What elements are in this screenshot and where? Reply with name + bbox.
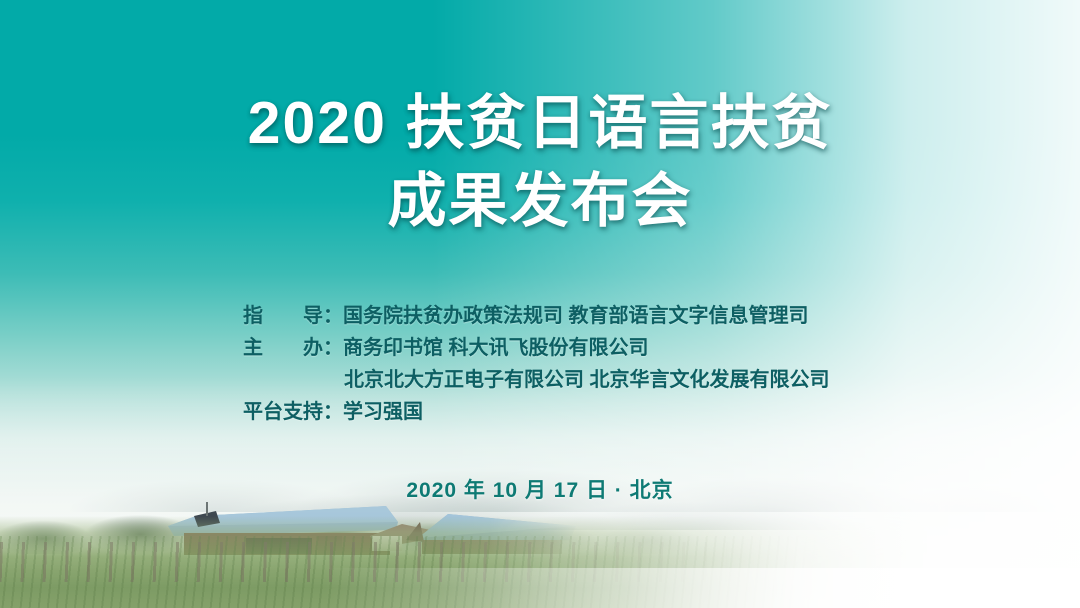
credits-block: 指 导：国务院扶贫办政策法规司 教育部语言文字信息管理司 主 办：商务印书馆 科… <box>243 300 830 428</box>
credits-value-organizer: 商务印书馆 科大讯飞股份有限公司 <box>343 337 649 359</box>
credits-label-platform: 平台支持： <box>243 401 343 423</box>
title-line-2: 成果发布会 <box>0 162 1080 240</box>
credits-row-organizer-cont: 北京北大方正电子有限公司 北京华言文化发展有限公司 <box>243 364 830 396</box>
title-line-1: 2020 扶贫日语言扶贫 <box>0 84 1080 162</box>
credits-value-organizer-cont: 北京北大方正电子有限公司 北京华言文化发展有限公司 <box>344 369 830 391</box>
poster-canvas: 2020 扶贫日语言扶贫 成果发布会 指 导：国务院扶贫办政策法规司 教育部语言… <box>0 0 1080 608</box>
credits-value-platform: 学习强国 <box>343 401 423 423</box>
credits-label-guidance: 指 导： <box>243 305 343 327</box>
credits-value-guidance: 国务院扶贫办政策法规司 教育部语言文字信息管理司 <box>343 305 809 327</box>
poster-content: 2020 扶贫日语言扶贫 成果发布会 指 导：国务院扶贫办政策法规司 教育部语言… <box>0 0 1080 608</box>
date-location-line: 2020 年 10 月 17 日 · 北京 <box>0 474 1080 504</box>
credits-row-guidance: 指 导：国务院扶贫办政策法规司 教育部语言文字信息管理司 <box>243 300 830 332</box>
credits-row-organizer: 主 办：商务印书馆 科大讯飞股份有限公司 <box>243 332 830 364</box>
credits-label-organizer: 主 办： <box>243 337 343 359</box>
poster-title-block: 2020 扶贫日语言扶贫 成果发布会 <box>0 84 1080 240</box>
credits-row-platform: 平台支持：学习强国 <box>243 396 830 428</box>
